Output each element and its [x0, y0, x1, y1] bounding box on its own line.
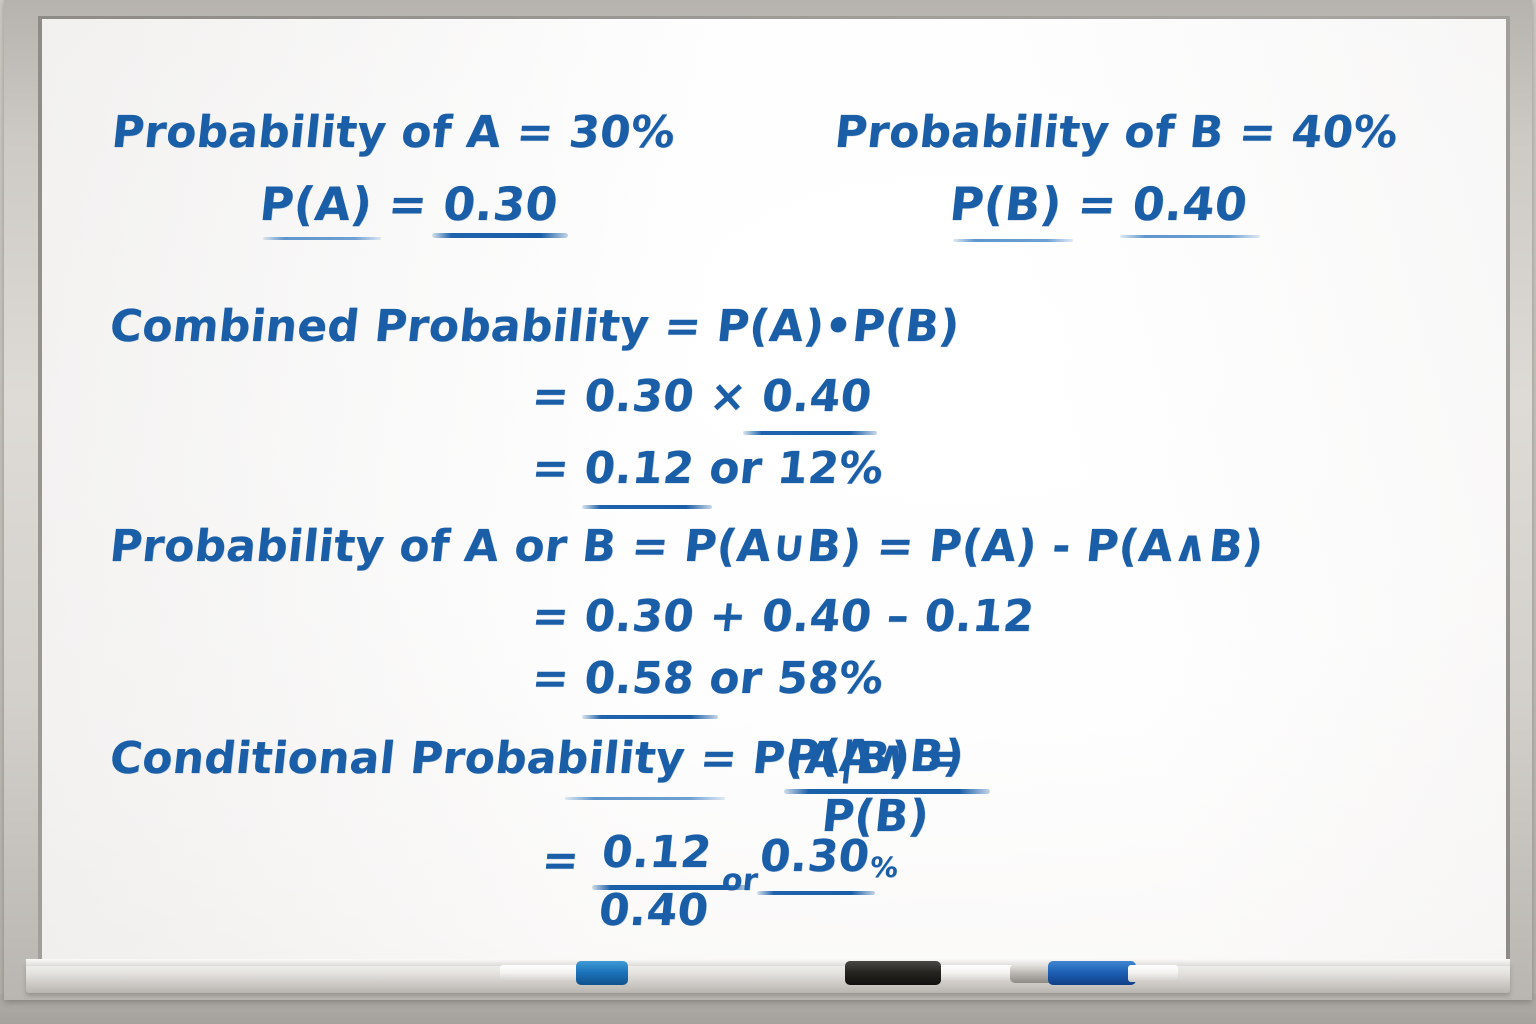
underline-pb-number [1120, 235, 1260, 238]
marker-cap [576, 961, 628, 985]
conditional-result-numerator: 0.12 [599, 827, 714, 878]
whiteboard-frame: Probability of A = 30% P(A) = 0.30 Proba… [4, 0, 1532, 1000]
union-probability-step-1: = 0.30 + 0.40 – 0.12 [529, 591, 1036, 642]
underline-conditional-030 [757, 891, 875, 895]
marker-body [933, 965, 1015, 982]
probability-a-value: P(A) = 0.30 [257, 177, 560, 231]
underline-pa-number [432, 233, 568, 238]
underline-conditional-pab [565, 797, 725, 800]
conditional-percent-sign: % [868, 851, 900, 884]
tray-lip [26, 959, 1510, 966]
conditional-or-word: or [720, 863, 759, 898]
probability-b-header: Probability of B = 40% [832, 107, 1400, 158]
whiteboard-scene: Probability of A = 30% P(A) = 0.30 Proba… [0, 0, 1536, 1024]
marker-body [1128, 965, 1178, 982]
conditional-result-denominator: 0.40 [596, 885, 711, 936]
union-probability-step-2: = 0.58 or 58% [529, 653, 886, 704]
underline-union-058 [582, 715, 718, 719]
probability-b-value: P(B) = 0.40 [947, 177, 1250, 231]
blue-marker-left[interactable] [500, 960, 628, 984]
conditional-equals-sign: = [539, 835, 581, 886]
marker-tray [26, 963, 1510, 993]
combined-probability-label: Combined Probability = P(A)•P(B) [107, 301, 962, 352]
whiteboard-writing-surface[interactable]: Probability of A = 30% P(A) = 0.30 Proba… [42, 19, 1506, 963]
black-marker[interactable] [845, 960, 1015, 984]
conditional-fraction-numerator: P(A∧B) [784, 731, 966, 782]
blue-marker-right-body[interactable] [1128, 960, 1178, 984]
marker-cap [845, 961, 941, 985]
probability-a-header: Probability of A = 30% [109, 107, 677, 158]
underline-pb-label [953, 239, 1073, 242]
marker-body [500, 965, 586, 982]
marker-cap [1048, 961, 1136, 985]
underline-pa-label [263, 237, 381, 240]
underline-combined-012 [582, 505, 712, 509]
underline-combined-040 [743, 431, 877, 435]
blue-marker-right[interactable] [1010, 960, 1136, 984]
combined-probability-step-2: = 0.12 or 12% [529, 443, 886, 494]
union-probability-label: Probability of A or B = P(A∪B) = P(A) - … [107, 521, 1266, 572]
conditional-percent-result: 0.30 [757, 831, 872, 882]
combined-probability-step-1: = 0.30 × 0.40 [529, 371, 874, 422]
